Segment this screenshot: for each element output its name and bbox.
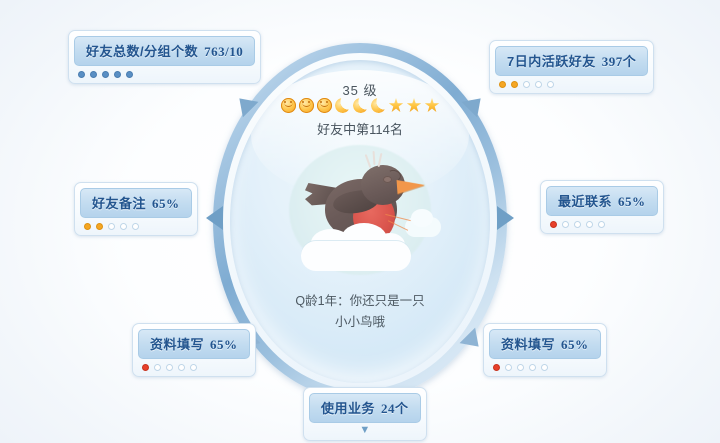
- dot-empty: [108, 223, 115, 230]
- dot-empty: [586, 221, 593, 228]
- callout-pill[interactable]: 好友备注65%: [80, 188, 192, 218]
- callout-active-friends-7d[interactable]: 7日内活跃好友397个: [489, 40, 654, 94]
- callout-dots: [546, 216, 658, 229]
- star-icon: [389, 98, 404, 113]
- dot-filled: [142, 364, 149, 371]
- dot-empty: [547, 81, 554, 88]
- callout-label: 最近联系: [558, 194, 612, 209]
- dot-empty: [517, 364, 524, 371]
- callout-label: 7日内活跃好友: [507, 54, 596, 69]
- callout-label: 好友备注: [92, 196, 146, 211]
- moon-icon: [351, 97, 369, 115]
- callout-services-used[interactable]: 使用业务24个 ▼: [303, 387, 427, 441]
- callout-dots: [489, 359, 601, 372]
- callout-dots: [495, 76, 648, 89]
- dot-empty: [132, 223, 139, 230]
- dot-empty: [529, 364, 536, 371]
- dot-empty: [523, 81, 530, 88]
- moon-icon: [369, 97, 387, 115]
- dot-filled: [126, 71, 133, 78]
- callout-value: 397个: [602, 54, 637, 69]
- dot-filled: [96, 223, 103, 230]
- callout-value: 763/10: [204, 44, 243, 59]
- callout-pill[interactable]: 使用业务24个: [309, 393, 421, 423]
- dot-filled: [511, 81, 518, 88]
- callout-dots: [74, 66, 255, 79]
- callout-value: 65%: [210, 337, 238, 352]
- dot-filled: [114, 71, 121, 78]
- dot-empty: [166, 364, 173, 371]
- dot-empty: [541, 364, 548, 371]
- sun-icon: [299, 98, 314, 113]
- moon-icon: [333, 97, 351, 115]
- star-icon: [425, 98, 440, 113]
- dot-empty: [190, 364, 197, 371]
- callout-dots: [80, 218, 192, 231]
- callout-pill[interactable]: 最近联系65%: [546, 186, 658, 216]
- cloud-base: [301, 241, 411, 271]
- callout-dots: [138, 359, 250, 372]
- callout-pill[interactable]: 资料填写65%: [489, 329, 601, 359]
- callout-friends-total[interactable]: 好友总数/分组个数763/10: [68, 30, 261, 84]
- callout-value: 65%: [618, 194, 646, 209]
- sun-icon: [317, 98, 332, 113]
- callout-label: 好友总数/分组个数: [86, 44, 198, 59]
- callout-recent-contact[interactable]: 最近联系65%: [540, 180, 664, 234]
- dot-empty: [598, 221, 605, 228]
- callout-pill[interactable]: 好友总数/分组个数763/10: [74, 36, 255, 66]
- level-icon-row: [213, 98, 507, 113]
- callout-label: 资料填写: [501, 337, 555, 352]
- sun-icon: [281, 98, 296, 113]
- cloud-small-icon: [411, 209, 433, 227]
- bird-mascot-icon: [275, 145, 445, 285]
- dot-empty: [562, 221, 569, 228]
- callout-value: 65%: [561, 337, 589, 352]
- dot-empty: [154, 364, 161, 371]
- chevron-down-icon[interactable]: ▼: [309, 423, 421, 436]
- bird-beak: [397, 178, 426, 194]
- dot-empty: [505, 364, 512, 371]
- callout-label: 使用业务: [321, 401, 375, 416]
- callout-label: 资料填写: [150, 337, 204, 352]
- central-ring: 35 级 好友中第114名: [213, 43, 507, 400]
- dot-empty: [120, 223, 127, 230]
- callout-profile-fill-right[interactable]: 资料填写65%: [483, 323, 607, 377]
- dot-filled: [78, 71, 85, 78]
- star-icon: [407, 98, 422, 113]
- dot-filled: [499, 81, 506, 88]
- dot-filled: [102, 71, 109, 78]
- dot-empty: [178, 364, 185, 371]
- callout-pill[interactable]: 7日内活跃好友397个: [495, 46, 648, 76]
- ring-content: 35 级 好友中第114名: [213, 43, 507, 400]
- q-age-message-line2: 小小鸟哦: [213, 312, 507, 333]
- q-age-message: Q龄1年：你还只是一只 小小鸟哦: [213, 291, 507, 333]
- dot-filled: [90, 71, 97, 78]
- q-age-message-line1: Q龄1年：你还只是一只: [213, 291, 507, 312]
- callout-value: 24个: [381, 401, 409, 416]
- dot-filled: [84, 223, 91, 230]
- dot-filled: [493, 364, 500, 371]
- dot-empty: [535, 81, 542, 88]
- callout-profile-fill-left[interactable]: 资料填写65%: [132, 323, 256, 377]
- dot-empty: [574, 221, 581, 228]
- dot-filled: [550, 221, 557, 228]
- callout-friend-remark[interactable]: 好友备注65%: [74, 182, 198, 236]
- friend-rank-label: 好友中第114名: [213, 119, 507, 138]
- profile-radar-canvas: 35 级 好友中第114名: [0, 0, 720, 443]
- callout-value: 65%: [152, 196, 180, 211]
- callout-pill[interactable]: 资料填写65%: [138, 329, 250, 359]
